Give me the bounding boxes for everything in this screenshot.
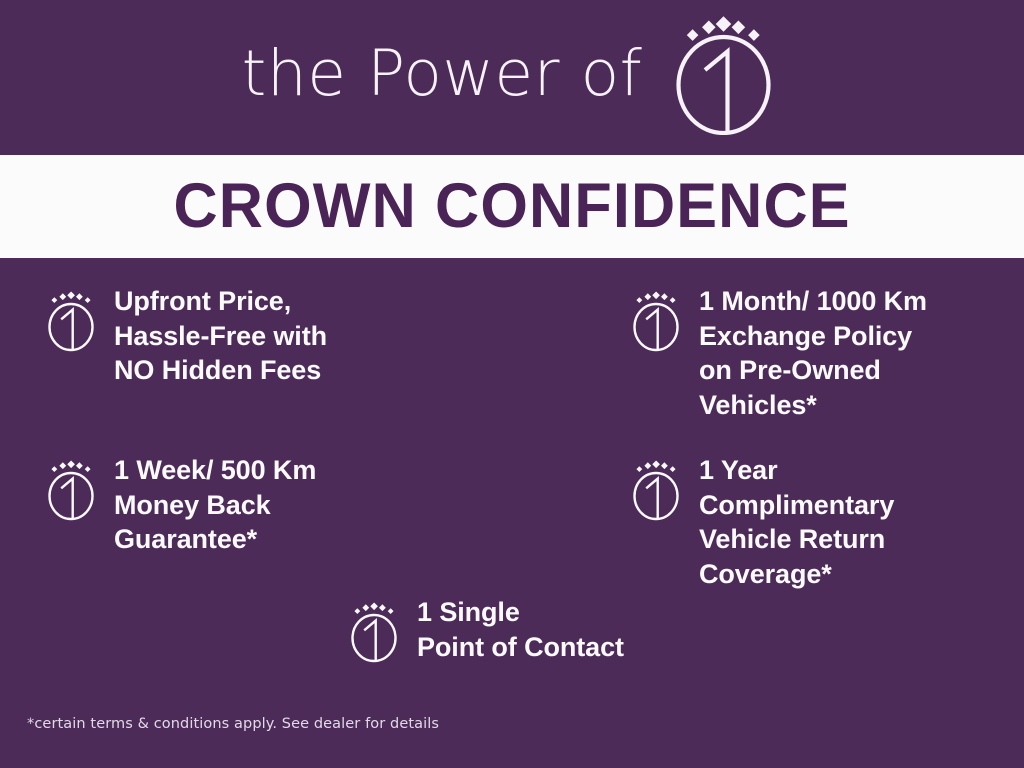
benefit-label: 1 Month/ 1000 Km Exchange Policy on Pre-… [699, 284, 927, 422]
crown-confidence-poster: the Power of CROWN CONFIDENCE [0, 0, 1024, 768]
benefit-item: 1 Month/ 1000 Km Exchange Policy on Pre-… [627, 284, 1017, 422]
crown-one-icon [42, 460, 100, 522]
page-title: the Power of [242, 42, 643, 105]
benefit-label: 1 Year Complimentary Vehicle Return Cove… [699, 453, 894, 591]
benefit-label: 1 Week/ 500 Km Money Back Guarantee* [114, 453, 316, 557]
benefit-label: Upfront Price, Hassle-Free with NO Hidde… [114, 284, 327, 388]
crown-one-icon [345, 602, 403, 664]
headline: CROWN CONFIDENCE [173, 175, 850, 238]
header-band: the Power of [0, 0, 1024, 155]
benefit-item: 1 Week/ 500 Km Money Back Guarantee* [42, 453, 442, 557]
terms-footnote: *certain terms & conditions apply. See d… [27, 717, 439, 732]
benefit-item: Upfront Price, Hassle-Free with NO Hidde… [42, 284, 442, 388]
benefit-item: 1 Single Point of Contact [345, 595, 725, 664]
benefits-grid: Upfront Price, Hassle-Free with NO Hidde… [0, 258, 1024, 768]
header-inner: the Power of [242, 13, 783, 135]
crown-one-icon [627, 460, 685, 522]
title-band: CROWN CONFIDENCE [0, 155, 1024, 258]
benefit-label: 1 Single Point of Contact [417, 595, 624, 664]
crown-one-icon [42, 291, 100, 353]
crown-one-logo [664, 13, 782, 135]
crown-one-icon [627, 291, 685, 353]
benefit-item: 1 Year Complimentary Vehicle Return Cove… [627, 453, 1017, 591]
